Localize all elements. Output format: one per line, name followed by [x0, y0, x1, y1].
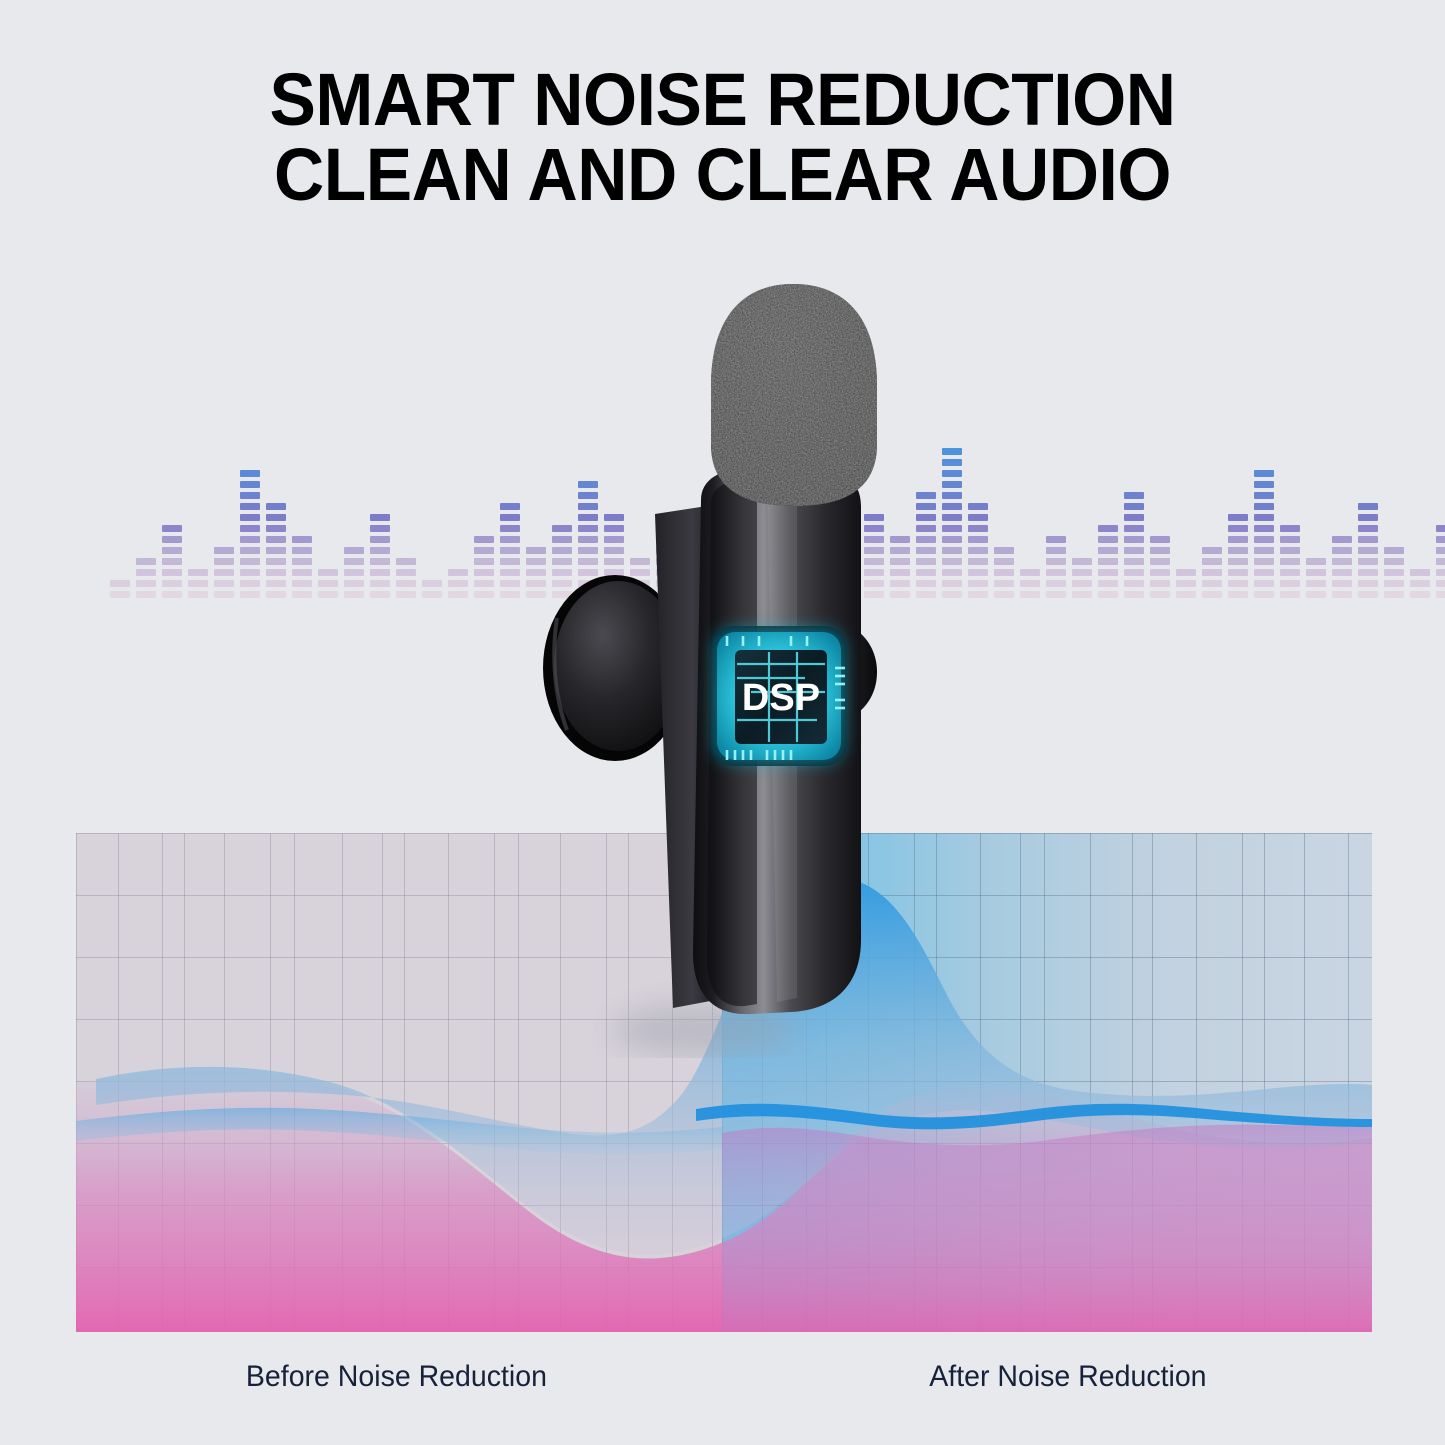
equalizer-segment — [1332, 536, 1352, 543]
equalizer-segment — [1020, 591, 1040, 598]
equalizer-segment — [188, 569, 208, 576]
equalizer-segment — [1332, 580, 1352, 587]
caption-after-noise-reduction: After Noise Reduction — [929, 1360, 1206, 1394]
equalizer-segment — [266, 503, 286, 510]
dsp-chip: DSP — [711, 626, 847, 766]
equalizer-segment — [1254, 470, 1274, 477]
equalizer-column — [370, 510, 390, 598]
equalizer-segment — [916, 503, 936, 510]
equalizer-segment — [344, 547, 364, 554]
equalizer-segment — [396, 591, 416, 598]
equalizer-segment — [1280, 569, 1300, 576]
equalizer-segment — [1072, 569, 1092, 576]
equalizer-segment — [292, 580, 312, 587]
equalizer-segment — [1098, 547, 1118, 554]
equalizer-segment — [188, 591, 208, 598]
equalizer-column — [1436, 521, 1445, 598]
equalizer-segment — [1176, 580, 1196, 587]
equalizer-segment — [968, 547, 988, 554]
equalizer-segment — [318, 569, 338, 576]
equalizer-segment — [1306, 580, 1326, 587]
equalizer-segment — [292, 558, 312, 565]
equalizer-column — [474, 532, 494, 598]
equalizer-segment — [942, 591, 962, 598]
equalizer-segment — [1332, 558, 1352, 565]
equalizer-column — [1384, 543, 1404, 598]
equalizer-segment — [396, 558, 416, 565]
equalizer-segment — [968, 558, 988, 565]
equalizer-segment — [994, 580, 1014, 587]
equalizer-segment — [240, 536, 260, 543]
equalizer-segment — [370, 558, 390, 565]
equalizer-column — [344, 543, 364, 598]
equalizer-column — [1332, 532, 1352, 598]
equalizer-segment — [1150, 569, 1170, 576]
equalizer-segment — [370, 514, 390, 521]
equalizer-segment — [1124, 547, 1144, 554]
equalizer-segment — [1332, 569, 1352, 576]
equalizer-segment — [448, 580, 468, 587]
equalizer-segment — [1228, 514, 1248, 521]
equalizer-segment — [266, 525, 286, 532]
equalizer-segment — [474, 547, 494, 554]
equalizer-segment — [1254, 514, 1274, 521]
equalizer-segment — [1202, 591, 1222, 598]
equalizer-segment — [422, 580, 442, 587]
equalizer-segment — [1280, 580, 1300, 587]
equalizer-segment — [1202, 558, 1222, 565]
equalizer-segment — [1254, 536, 1274, 543]
equalizer-segment — [266, 569, 286, 576]
equalizer-segment — [1098, 525, 1118, 532]
equalizer-segment — [396, 580, 416, 587]
equalizer-segment — [1280, 591, 1300, 598]
equalizer-segment — [968, 591, 988, 598]
equalizer-segment — [1098, 536, 1118, 543]
headline-line-1: SMART NOISE REDUCTION — [43, 62, 1401, 137]
lavalier-microphone: DSP — [505, 268, 905, 1058]
equalizer-segment — [1228, 547, 1248, 554]
equalizer-segment — [1306, 569, 1326, 576]
equalizer-segment — [1332, 547, 1352, 554]
equalizer-segment — [1202, 580, 1222, 587]
equalizer-segment — [916, 569, 936, 576]
equalizer-segment — [916, 536, 936, 543]
equalizer-segment — [136, 591, 156, 598]
equalizer-segment — [1280, 547, 1300, 554]
equalizer-segment — [968, 503, 988, 510]
equalizer-segment — [370, 591, 390, 598]
equalizer-segment — [422, 591, 442, 598]
equalizer-segment — [1306, 558, 1326, 565]
equalizer-segment — [292, 591, 312, 598]
equalizer-segment — [942, 536, 962, 543]
equalizer-column — [1202, 543, 1222, 598]
equalizer-segment — [1046, 547, 1066, 554]
equalizer-segment — [1436, 569, 1445, 576]
equalizer-segment — [916, 525, 936, 532]
equalizer-segment — [1202, 547, 1222, 554]
equalizer-segment — [1150, 536, 1170, 543]
equalizer-segment — [1332, 591, 1352, 598]
equalizer-segment — [968, 536, 988, 543]
equalizer-segment — [1436, 547, 1445, 554]
equalizer-segment — [1306, 591, 1326, 598]
equalizer-column — [942, 444, 962, 598]
equalizer-segment — [318, 580, 338, 587]
equalizer-segment — [240, 591, 260, 598]
equalizer-column — [1098, 521, 1118, 598]
equalizer-segment — [994, 569, 1014, 576]
equalizer-segment — [1436, 525, 1445, 532]
equalizer-segment — [1254, 547, 1274, 554]
equalizer-segment — [474, 591, 494, 598]
equalizer-segment — [994, 558, 1014, 565]
equalizer-segment — [1176, 569, 1196, 576]
equalizer-segment — [1254, 525, 1274, 532]
equalizer-segment — [240, 525, 260, 532]
equalizer-segment — [1228, 569, 1248, 576]
equalizer-segment — [396, 569, 416, 576]
equalizer-segment — [214, 580, 234, 587]
equalizer-segment — [1124, 492, 1144, 499]
equalizer-segment — [942, 525, 962, 532]
equalizer-segment — [942, 569, 962, 576]
equalizer-segment — [162, 558, 182, 565]
equalizer-segment — [968, 514, 988, 521]
equalizer-segment — [1384, 558, 1404, 565]
equalizer-column — [968, 499, 988, 598]
equalizer-segment — [1280, 536, 1300, 543]
equalizer-segment — [942, 492, 962, 499]
equalizer-column — [1176, 565, 1196, 598]
equalizer-segment — [162, 547, 182, 554]
equalizer-column — [994, 543, 1014, 598]
equalizer-segment — [1124, 569, 1144, 576]
equalizer-segment — [1228, 591, 1248, 598]
equalizer-segment — [344, 580, 364, 587]
equalizer-segment — [1384, 591, 1404, 598]
equalizer-segment — [292, 536, 312, 543]
dsp-chip-label: DSP — [742, 677, 820, 719]
equalizer-segment — [240, 547, 260, 554]
equalizer-segment — [1254, 591, 1274, 598]
equalizer-segment — [240, 514, 260, 521]
equalizer-segment — [292, 569, 312, 576]
equalizer-segment — [1124, 536, 1144, 543]
equalizer-column — [916, 488, 936, 598]
equalizer-column — [162, 521, 182, 598]
equalizer-segment — [266, 547, 286, 554]
equalizer-segment — [916, 558, 936, 565]
equalizer-segment — [1020, 580, 1040, 587]
caption-before-noise-reduction: Before Noise Reduction — [246, 1360, 547, 1394]
equalizer-column — [1046, 532, 1066, 598]
equalizer-segment — [474, 569, 494, 576]
equalizer-segment — [162, 525, 182, 532]
equalizer-segment — [1384, 569, 1404, 576]
equalizer-segment — [240, 558, 260, 565]
equalizer-column — [136, 554, 156, 598]
equalizer-segment — [942, 503, 962, 510]
equalizer-segment — [240, 580, 260, 587]
equalizer-segment — [266, 580, 286, 587]
equalizer-segment — [942, 514, 962, 521]
equalizer-segment — [1124, 514, 1144, 521]
equalizer-segment — [1046, 580, 1066, 587]
equalizer-segment — [162, 580, 182, 587]
equalizer-segment — [1254, 492, 1274, 499]
equalizer-segment — [240, 481, 260, 488]
equalizer-segment — [1384, 580, 1404, 587]
equalizer-segment — [942, 547, 962, 554]
equalizer-segment — [240, 503, 260, 510]
equalizer-column — [214, 543, 234, 598]
equalizer-segment — [1124, 525, 1144, 532]
equalizer-column — [110, 576, 130, 598]
equalizer-segment — [1228, 536, 1248, 543]
equalizer-segment — [1124, 591, 1144, 598]
equalizer-column — [240, 466, 260, 598]
equalizer-segment — [1098, 569, 1118, 576]
equalizer-segment — [942, 459, 962, 466]
equalizer-segment — [474, 558, 494, 565]
equalizer-segment — [916, 492, 936, 499]
equalizer-segment — [994, 547, 1014, 554]
equalizer-segment — [318, 591, 338, 598]
equalizer-column — [1228, 510, 1248, 598]
equalizer-segment — [1098, 558, 1118, 565]
equalizer-segment — [1228, 558, 1248, 565]
equalizer-segment — [266, 558, 286, 565]
equalizer-column — [1072, 554, 1092, 598]
equalizer-segment — [370, 525, 390, 532]
equalizer-segment — [1098, 591, 1118, 598]
equalizer-segment — [214, 591, 234, 598]
equalizer-segment — [1046, 569, 1066, 576]
equalizer-segment — [942, 558, 962, 565]
headline-line-2: CLEAN AND CLEAR AUDIO — [43, 137, 1401, 212]
equalizer-segment — [448, 569, 468, 576]
equalizer-segment — [1254, 481, 1274, 488]
equalizer-segment — [162, 536, 182, 543]
equalizer-segment — [1358, 514, 1378, 521]
equalizer-segment — [942, 470, 962, 477]
equalizer-segment — [1150, 547, 1170, 554]
equalizer-segment — [968, 580, 988, 587]
equalizer-segment — [1072, 591, 1092, 598]
equalizer-segment — [1436, 580, 1445, 587]
equalizer-segment — [448, 591, 468, 598]
equalizer-column — [422, 576, 442, 598]
equalizer-segment — [1046, 536, 1066, 543]
equalizer-segment — [1410, 569, 1430, 576]
equalizer-column — [292, 532, 312, 598]
equalizer-segment — [162, 591, 182, 598]
equalizer-segment — [240, 470, 260, 477]
equalizer-segment — [1254, 569, 1274, 576]
equalizer-column — [1410, 565, 1430, 598]
foam-windscreen — [711, 284, 877, 506]
equalizer-segment — [1150, 580, 1170, 587]
equalizer-segment — [474, 536, 494, 543]
equalizer-segment — [1072, 580, 1092, 587]
equalizer-segment — [266, 514, 286, 521]
equalizer-segment — [1436, 536, 1445, 543]
equalizer-segment — [474, 580, 494, 587]
equalizer-column — [188, 565, 208, 598]
equalizer-segment — [1228, 525, 1248, 532]
equalizer-segment — [1124, 503, 1144, 510]
equalizer-segment — [188, 580, 208, 587]
equalizer-segment — [1046, 591, 1066, 598]
equalizer-column — [1020, 565, 1040, 598]
equalizer-segment — [1358, 580, 1378, 587]
equalizer-segment — [942, 580, 962, 587]
equalizer-segment — [916, 591, 936, 598]
equalizer-segment — [1410, 580, 1430, 587]
equalizer-segment — [968, 569, 988, 576]
equalizer-segment — [1358, 591, 1378, 598]
equalizer-column — [1254, 466, 1274, 598]
equalizer-segment — [1150, 558, 1170, 565]
equalizer-segment — [1280, 558, 1300, 565]
equalizer-segment — [214, 558, 234, 565]
equalizer-segment — [916, 547, 936, 554]
equalizer-column — [1280, 521, 1300, 598]
equalizer-column — [1306, 554, 1326, 598]
equalizer-segment — [916, 514, 936, 521]
equalizer-segment — [110, 580, 130, 587]
equalizer-segment — [1410, 591, 1430, 598]
equalizer-segment — [1436, 558, 1445, 565]
equalizer-segment — [1124, 580, 1144, 587]
equalizer-segment — [1280, 525, 1300, 532]
equalizer-segment — [1098, 580, 1118, 587]
equalizer-segment — [1358, 569, 1378, 576]
equalizer-segment — [266, 591, 286, 598]
equalizer-segment — [136, 580, 156, 587]
equalizer-segment — [162, 569, 182, 576]
equalizer-segment — [1202, 569, 1222, 576]
equalizer-segment — [1254, 580, 1274, 587]
equalizer-column — [1358, 499, 1378, 598]
equalizer-segment — [994, 591, 1014, 598]
equalizer-segment — [1358, 503, 1378, 510]
equalizer-segment — [1150, 591, 1170, 598]
equalizer-segment — [1124, 558, 1144, 565]
equalizer-segment — [968, 525, 988, 532]
equalizer-segment — [136, 569, 156, 576]
equalizer-segment — [214, 569, 234, 576]
equalizer-segment — [214, 547, 234, 554]
equalizer-segment — [344, 558, 364, 565]
equalizer-segment — [344, 569, 364, 576]
equalizer-segment — [110, 591, 130, 598]
equalizer-segment — [266, 536, 286, 543]
equalizer-column — [1124, 488, 1144, 598]
equalizer-segment — [1254, 558, 1274, 565]
equalizer-segment — [1358, 525, 1378, 532]
equalizer-segment — [1254, 503, 1274, 510]
equalizer-column — [266, 499, 286, 598]
equalizer-segment — [1436, 591, 1445, 598]
equalizer-segment — [942, 448, 962, 455]
page-title: SMART NOISE REDUCTION CLEAN AND CLEAR AU… — [43, 62, 1401, 213]
equalizer-segment — [1072, 558, 1092, 565]
equalizer-segment — [1020, 569, 1040, 576]
equalizer-segment — [344, 591, 364, 598]
equalizer-column — [448, 565, 468, 598]
equalizer-segment — [942, 481, 962, 488]
equalizer-segment — [1384, 547, 1404, 554]
equalizer-segment — [370, 580, 390, 587]
equalizer-segment — [240, 569, 260, 576]
equalizer-segment — [370, 547, 390, 554]
after-wave-lower — [722, 1125, 1372, 1332]
equalizer-segment — [292, 547, 312, 554]
equalizer-column — [318, 565, 338, 598]
equalizer-segment — [1358, 547, 1378, 554]
equalizer-segment — [370, 569, 390, 576]
equalizer-segment — [1358, 558, 1378, 565]
equalizer-column — [396, 554, 416, 598]
equalizer-segment — [1228, 580, 1248, 587]
equalizer-segment — [136, 558, 156, 565]
equalizer-segment — [370, 536, 390, 543]
equalizer-segment — [240, 492, 260, 499]
equalizer-segment — [1046, 558, 1066, 565]
equalizer-segment — [1176, 591, 1196, 598]
equalizer-segment — [916, 580, 936, 587]
equalizer-column — [1150, 532, 1170, 598]
equalizer-segment — [1358, 536, 1378, 543]
